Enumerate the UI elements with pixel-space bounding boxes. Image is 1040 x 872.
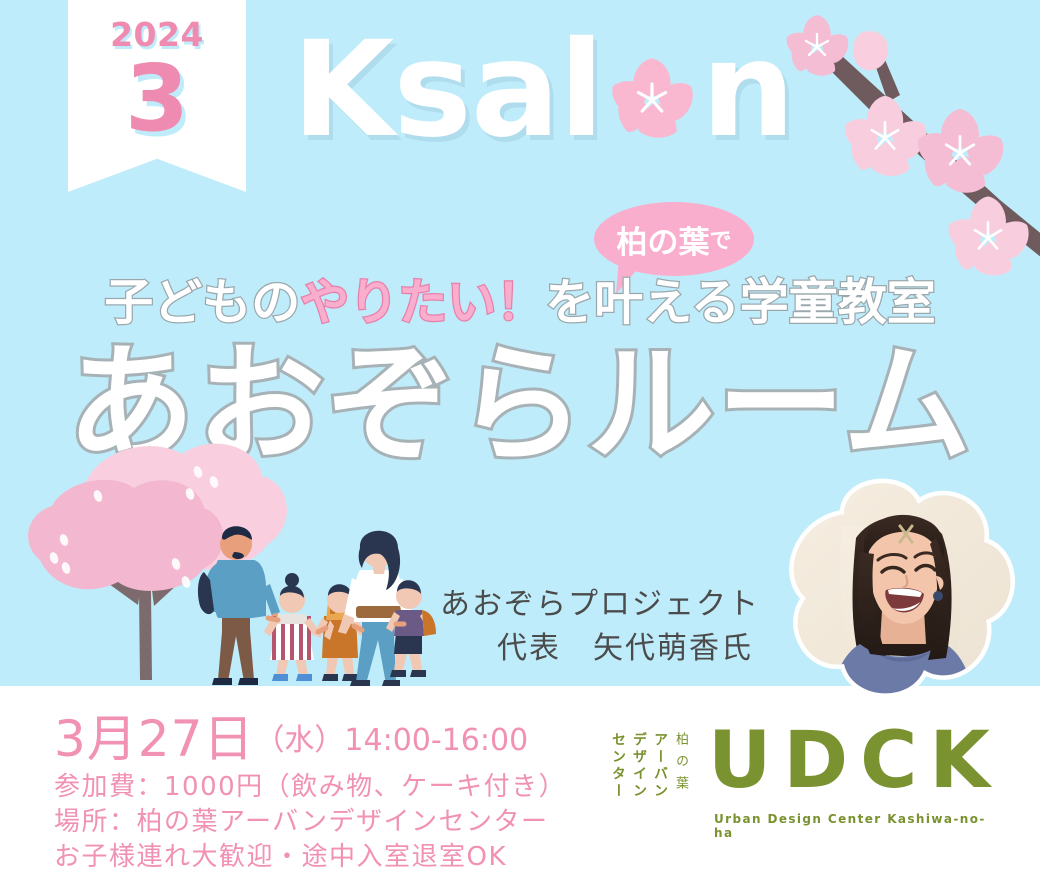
bubble-suffix-text: で: [709, 223, 731, 255]
speaker-caption: あおぞらプロジェクト 代表 矢代萌香氏: [440, 583, 770, 670]
speaker-role-name: 代表 矢代萌香氏: [440, 627, 770, 671]
udck-vertical-line-3: デザイン: [632, 732, 646, 818]
bubble-main-text: 柏の葉: [616, 217, 709, 262]
headline-part2: やりたい！: [300, 274, 545, 331]
family-walking-illustration: [198, 526, 436, 686]
sakura-branch-illustration: [770, 0, 1040, 290]
headline-part1: 子どもの: [104, 274, 300, 331]
event-day-time: （水）14:00-16:00: [254, 723, 528, 758]
ksalon-text-after: n: [701, 24, 794, 156]
ribbon-month: 3: [68, 53, 246, 145]
headline-part3: を叶える学童教室: [545, 274, 936, 331]
speech-bubble: 柏の葉で: [594, 202, 754, 276]
udck-vertical-text: 柏の葉 アーバン デザイン センター: [604, 732, 687, 818]
ksalon-text-before: Ksal: [292, 24, 603, 156]
udck-vertical-line-2: アーバン: [653, 732, 667, 818]
event-note: お子様連れ大歓迎・途中入室退室OK: [54, 840, 574, 872]
speaker-organization: あおぞらプロジェクト: [440, 583, 770, 627]
event-fee: 参加費：1000円（飲み物、ケーキ付き）: [54, 770, 574, 805]
event-poster: 2024 3 Ksaln 柏の葉で 子どものやりたい！を叶える学童教室 あおぞら…: [0, 0, 1040, 872]
udck-vertical-line-1: 柏の葉: [674, 732, 687, 818]
udck-vertical-line-4: センター: [611, 732, 625, 818]
cherry-tree-and-family-illustration: [0, 440, 470, 690]
udck-wordmark: UDCK: [708, 722, 1002, 800]
udck-tagline: Urban Design Center Kashiwa-no-ha: [714, 812, 1004, 840]
speaker-portrait-photo: [778, 468, 1024, 708]
date-ribbon: 2024 3: [68, 0, 246, 192]
ksalon-logo: Ksaln: [292, 24, 794, 156]
event-details: 3月27日（水）14:00-16:00 参加費：1000円（飲み物、ケーキ付き）…: [54, 714, 574, 872]
headline: 子どものやりたい！を叶える学童教室: [0, 277, 1040, 328]
event-place: 場所：柏の葉アーバンデザインセンター: [54, 805, 574, 840]
event-date: 3月27日: [54, 710, 254, 768]
event-date-line: 3月27日（水）14:00-16:00: [54, 714, 574, 764]
sakura-blossom-icon: [603, 51, 701, 149]
udck-logo: 柏の葉 アーバン デザイン センター UDCK Urban Design Cen…: [604, 726, 1004, 832]
